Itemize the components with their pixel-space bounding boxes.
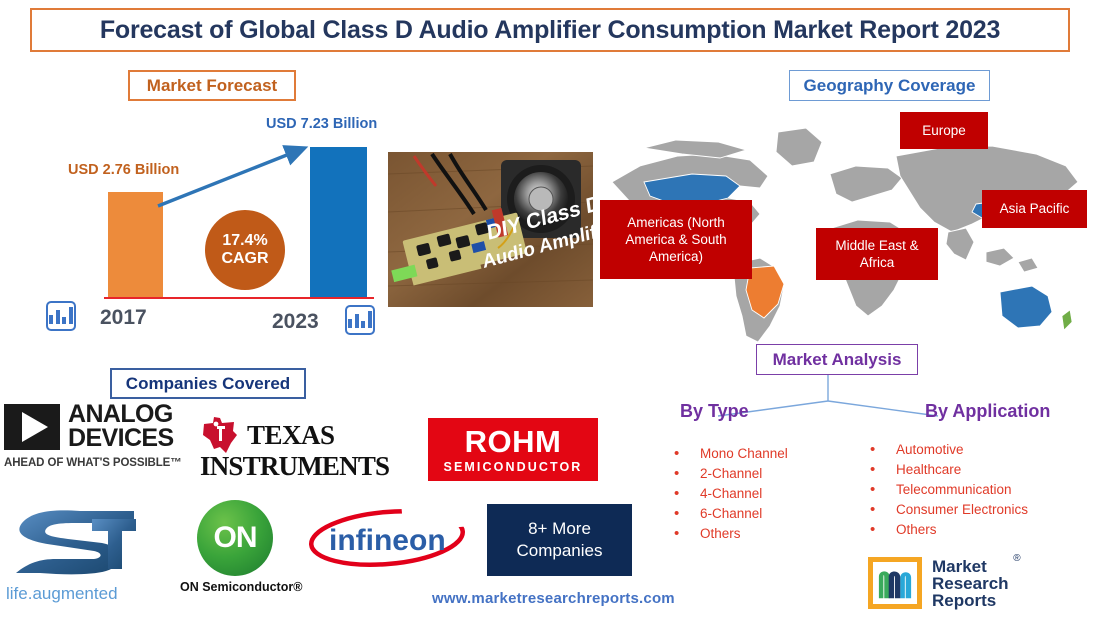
mrr-wordmark: Market Research Reports ® bbox=[932, 558, 1009, 609]
st-tagline: life.augmented bbox=[6, 584, 151, 604]
analysis-heading-by-application: By Application bbox=[925, 401, 1050, 422]
chart-baseline bbox=[104, 297, 374, 300]
infineon-mark-icon: infineon bbox=[305, 500, 470, 572]
texas-instruments-line2: INSTRUMENTS bbox=[200, 451, 405, 482]
market-research-reports-logo: Market Research Reports ® bbox=[868, 554, 1083, 612]
map-label-middle-east-africa: Middle East & Africa bbox=[816, 228, 938, 280]
cagr-label: CAGR bbox=[221, 250, 268, 268]
market-analysis-tree: By Type By Application Mono Channel 2-Ch… bbox=[640, 344, 1080, 554]
product-photo: DIY Class D Audio Amplifier bbox=[388, 152, 593, 307]
market-forecast-chart: USD 2.76 Billion USD 7.23 Billion 17.4% … bbox=[30, 110, 380, 350]
analog-devices-tagline: AHEAD OF WHAT'S POSSIBLE™ bbox=[4, 457, 194, 469]
page-title: Forecast of Global Class D Audio Amplifi… bbox=[100, 16, 1000, 45]
analysis-heading-by-type: By Type bbox=[680, 401, 749, 422]
mrr-registered-mark: ® bbox=[1013, 554, 1020, 564]
map-label-asia-pacific: Asia Pacific bbox=[982, 190, 1087, 228]
list-item: Consumer Electronics bbox=[870, 500, 1028, 520]
logo-infineon: infineon bbox=[305, 500, 470, 572]
list-item: Healthcare bbox=[870, 460, 1028, 480]
more-companies-box: 8+ More Companies bbox=[487, 504, 632, 576]
texas-instruments-star-icon bbox=[200, 415, 242, 455]
mrr-line3: Reports bbox=[932, 592, 1009, 609]
map-highlight-australia bbox=[1000, 286, 1052, 328]
rohm-subtitle: SEMICONDUCTOR bbox=[444, 460, 583, 474]
list-item: Mono Channel bbox=[674, 444, 788, 464]
analog-devices-triangle-icon bbox=[4, 404, 60, 450]
by-type-list: Mono Channel 2-Channel 4-Channel 6-Chann… bbox=[674, 444, 788, 544]
list-item: Others bbox=[674, 524, 788, 544]
logo-texas-instruments: TEXAS INSTRUMENTS bbox=[200, 415, 405, 485]
cagr-percent: 17.4% bbox=[222, 232, 267, 250]
mrr-line2: Research bbox=[932, 575, 1009, 592]
list-item: Telecommunication bbox=[870, 480, 1028, 500]
map-label-americas: Americas (North America & South America) bbox=[600, 200, 752, 279]
on-semiconductor-circle-icon: ON bbox=[197, 500, 273, 576]
by-application-list: Automotive Healthcare Telecommunication … bbox=[870, 440, 1028, 540]
texas-instruments-line1: TEXAS bbox=[247, 420, 335, 451]
on-semiconductor-caption: ON Semiconductor® bbox=[180, 580, 290, 594]
st-mark-icon bbox=[6, 505, 146, 577]
analog-devices-line1: ANALOG bbox=[68, 403, 174, 427]
list-item: Others bbox=[870, 520, 1028, 540]
page-title-box: Forecast of Global Class D Audio Amplifi… bbox=[30, 8, 1070, 52]
market-forecast-header: Market Forecast bbox=[128, 70, 296, 101]
logo-rohm: ROHM SEMICONDUCTOR bbox=[428, 418, 598, 481]
axis-label-2023: 2023 bbox=[272, 310, 319, 334]
list-item: 2-Channel bbox=[674, 464, 788, 484]
logo-stmicroelectronics: life.augmented bbox=[6, 505, 151, 605]
list-item: Automotive bbox=[870, 440, 1028, 460]
infographic-canvas: Forecast of Global Class D Audio Amplifi… bbox=[0, 0, 1100, 620]
infineon-wordmark: infineon bbox=[329, 524, 446, 557]
list-item: 6-Channel bbox=[674, 504, 788, 524]
cagr-badge: 17.4% CAGR bbox=[205, 210, 285, 290]
geography-coverage-header: Geography Coverage bbox=[789, 70, 990, 101]
bar-value-label-2017: USD 2.76 Billion bbox=[68, 162, 179, 178]
map-highlight-newzealand bbox=[1062, 310, 1072, 330]
analog-devices-line2: DEVICES bbox=[68, 427, 174, 451]
more-companies-line2: Companies bbox=[517, 540, 603, 562]
bar-2023 bbox=[310, 147, 367, 297]
mrr-line1: Market bbox=[932, 558, 1009, 575]
website-url[interactable]: www.marketresearchreports.com bbox=[432, 590, 675, 607]
bar-chart-icon-left bbox=[46, 301, 76, 331]
mrr-badge-icon bbox=[868, 557, 922, 609]
bar-chart-icon-right bbox=[345, 305, 375, 335]
logo-on-semiconductor: ON ON Semiconductor® bbox=[180, 500, 290, 605]
on-semiconductor-mark: ON bbox=[214, 521, 257, 555]
list-item: 4-Channel bbox=[674, 484, 788, 504]
more-companies-line1: 8+ More bbox=[517, 518, 603, 540]
axis-label-2017: 2017 bbox=[100, 306, 147, 330]
rohm-wordmark: ROHM bbox=[465, 426, 562, 457]
map-label-europe: Europe bbox=[900, 112, 988, 149]
bar-value-label-2023: USD 7.23 Billion bbox=[266, 116, 377, 132]
logo-analog-devices: ANALOG DEVICES AHEAD OF WHAT'S POSSIBLE™ bbox=[4, 403, 194, 475]
bar-2017 bbox=[108, 192, 163, 297]
companies-covered-header: Companies Covered bbox=[110, 368, 306, 399]
